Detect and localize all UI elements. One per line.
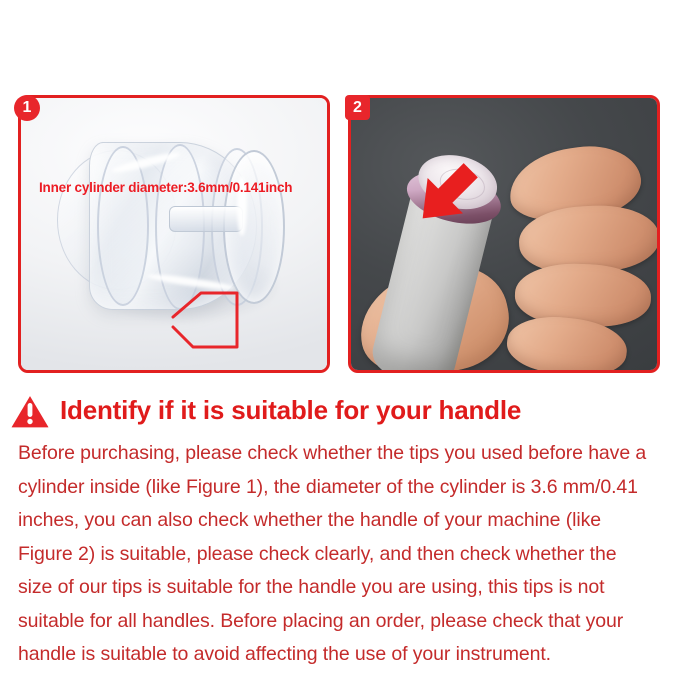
pointer-arrow-icon bbox=[409, 158, 483, 232]
figure-1-badge: 1 bbox=[14, 95, 40, 121]
figure-1-annotation: Inner cylinder diameter:3.6mm/0.141inch bbox=[39, 180, 292, 195]
figure-panels: Inner cylinder diameter:3.6mm/0.141inch bbox=[0, 0, 679, 385]
inner-cylinder bbox=[169, 206, 243, 232]
figure-1-photo: Inner cylinder diameter:3.6mm/0.141inch bbox=[21, 98, 327, 370]
warning-triangle-icon bbox=[8, 390, 52, 430]
figure-2-photo bbox=[351, 98, 657, 370]
figure-2-badge: 2 bbox=[345, 95, 370, 120]
body-paragraph: Before purchasing, please check whether … bbox=[18, 437, 650, 672]
page-title: Identify if it is suitable for your hand… bbox=[60, 395, 521, 426]
figure-2-panel bbox=[348, 95, 660, 373]
figure-1-panel: Inner cylinder diameter:3.6mm/0.141inch bbox=[18, 95, 330, 373]
heading-row: Identify if it is suitable for your hand… bbox=[8, 390, 521, 430]
product-info-graphic: Inner cylinder diameter:3.6mm/0.141inch bbox=[0, 0, 679, 679]
inner-cylinder-callout-outline bbox=[171, 291, 241, 353]
